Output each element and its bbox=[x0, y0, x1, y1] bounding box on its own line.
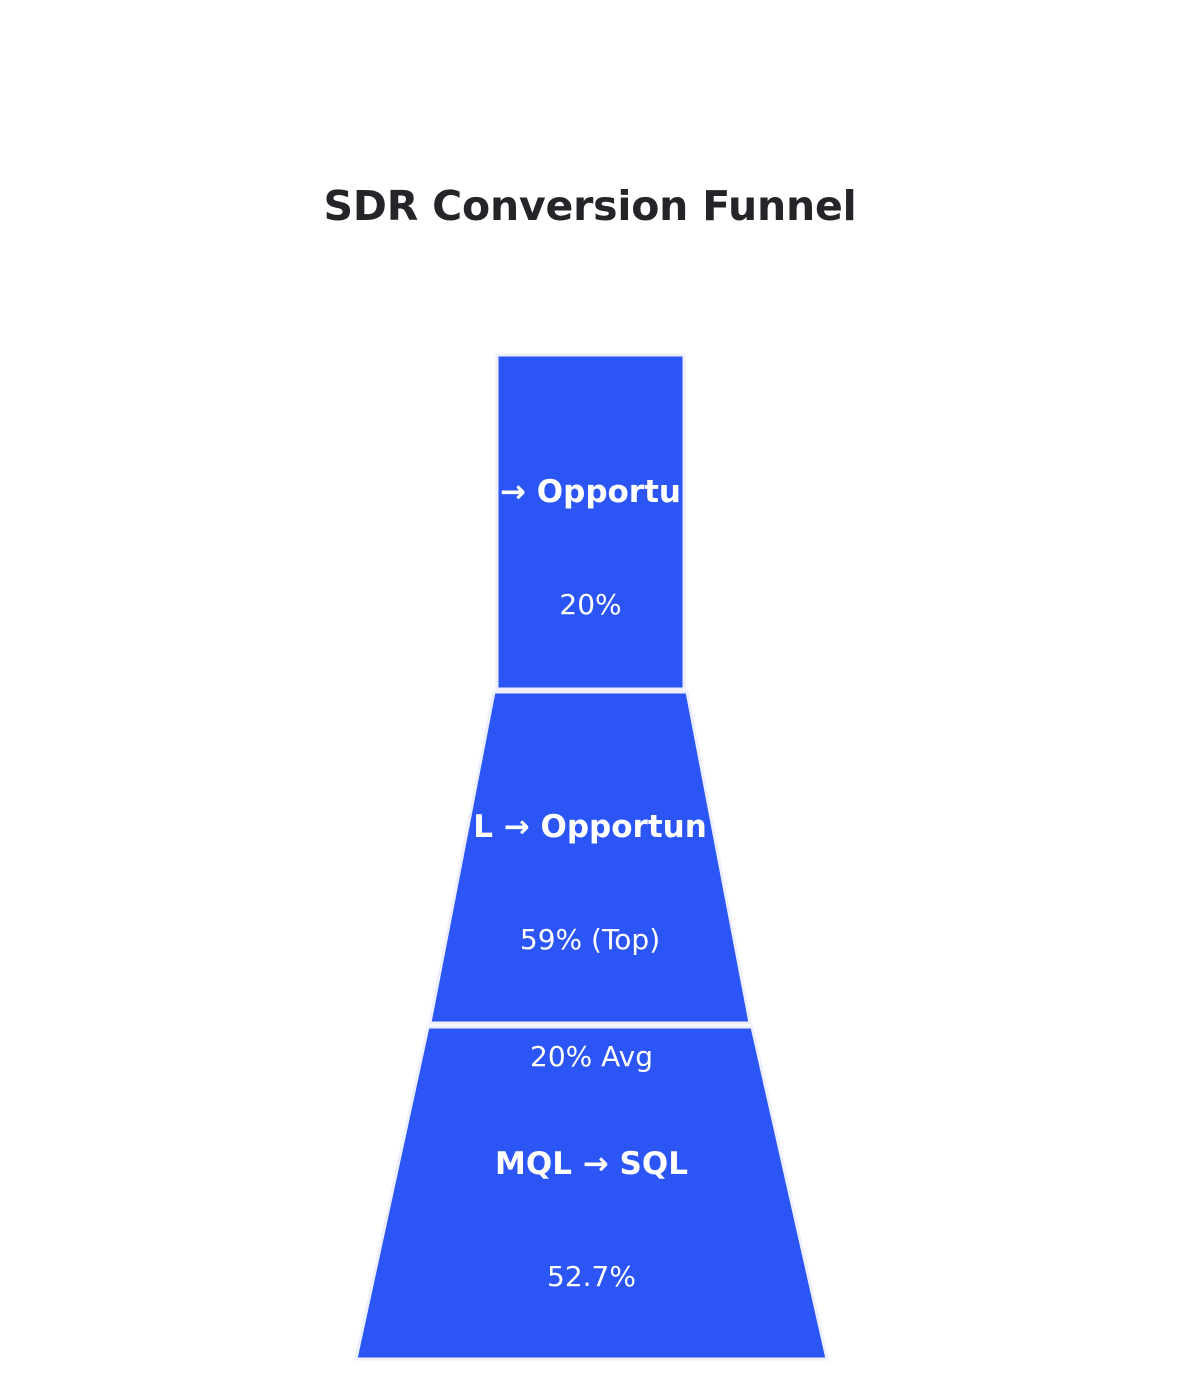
chart-canvas: SDR Conversion Funnel → Opportu 20% L → … bbox=[0, 0, 1180, 1380]
funnel-chart bbox=[0, 0, 1180, 1380]
funnel-segment-2[interactable] bbox=[430, 692, 750, 1023]
funnel-shapes bbox=[0, 0, 1180, 1380]
funnel-segment-1[interactable] bbox=[497, 355, 684, 689]
funnel-segment-3[interactable] bbox=[356, 1027, 827, 1359]
